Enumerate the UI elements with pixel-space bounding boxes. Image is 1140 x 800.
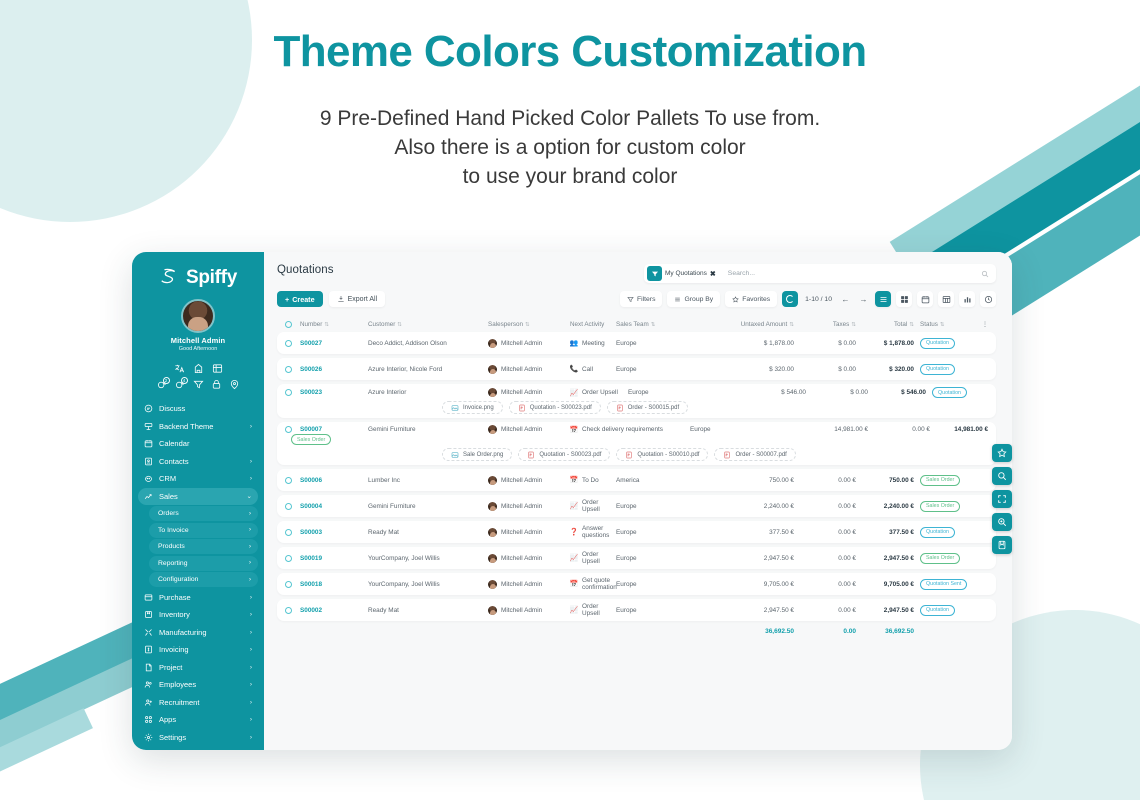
sort-icon: ⇅ (525, 322, 530, 328)
total-amount: 36,692.50 (856, 628, 914, 635)
sidebar-item-sales[interactable]: Sales ⌄ (138, 488, 258, 505)
row-total: 14,981.00 € (930, 426, 988, 433)
sidebar-label: Manufacturing (159, 628, 244, 637)
row-activity-label: Order Upsell (582, 389, 618, 396)
avatar (488, 528, 497, 537)
row-salesperson-name: Mitchell Admin (501, 340, 542, 347)
sidebar-sublabel: Orders (158, 510, 249, 517)
status-badge: Sales Order (920, 475, 960, 486)
row-number[interactable]: S00026 (300, 366, 368, 373)
row-sales-team: Europe (616, 555, 702, 562)
upgrade-icon[interactable] (193, 363, 204, 374)
row-customer: Azure Interior (368, 389, 488, 396)
avatar (488, 476, 497, 485)
row-next-activity: 📅To Do (570, 476, 616, 484)
table-row[interactable]: S00004Gemini FurnitureMitchell Admin📈Ord… (277, 495, 996, 517)
row-checkbox[interactable] (285, 607, 300, 614)
sort-icon: ⇅ (324, 322, 329, 328)
row-next-activity: 📅Check delivery requirements (570, 426, 690, 434)
row-checkbox[interactable] (285, 389, 300, 396)
row-sales-team: Europe (616, 340, 702, 347)
sidebar-item-purchase[interactable]: Purchase › (138, 589, 258, 606)
row-customer: YourCompany, Joel Willis (368, 581, 488, 588)
select-all-checkbox[interactable] (285, 321, 300, 328)
row-sales-team: America (616, 477, 702, 484)
chevron-right-icon: › (249, 577, 251, 583)
row-salesperson: Mitchell Admin (488, 476, 570, 485)
attachment-row: Invoice.pngQuotation - S00023.pdfOrder -… (285, 398, 988, 415)
table-row[interactable]: S00019YourCompany, Joel WillisMitchell A… (277, 547, 996, 569)
sidebar-label: Purchase (159, 593, 244, 602)
row-salesperson-name: Mitchell Admin (501, 366, 542, 373)
employees-icon (144, 680, 153, 689)
loading-spinner-icon[interactable] (782, 291, 798, 307)
table-row[interactable]: S00006Lumber IncMitchell Admin📅To DoAmer… (277, 469, 996, 491)
activity-icon: 📈 (570, 389, 578, 397)
row-checkbox[interactable] (285, 340, 300, 347)
sort-icon: ⇅ (909, 322, 914, 328)
row-untaxed: 377.50 € (702, 529, 794, 536)
profile-block: Mitchell Admin Good Afternoon (132, 297, 264, 357)
column-next-activity[interactable]: Next Activity (570, 321, 616, 328)
sort-icon: ⇅ (397, 322, 402, 328)
filters-button[interactable]: Filters (620, 291, 663, 307)
activity-icon: 📅 (570, 426, 578, 434)
sidebar-sublabel: Products (158, 543, 249, 550)
pdf-file-icon (625, 451, 633, 459)
quick-icons-row-1 (132, 363, 264, 374)
apps-grid-icon[interactable] (212, 363, 223, 374)
row-taxes: 0.00 € (794, 503, 856, 510)
sidebar-subitem-configuration[interactable]: Configuration › (149, 572, 258, 587)
row-status: Quotation (926, 387, 988, 398)
row-salesperson-name: Mitchell Admin (501, 389, 542, 396)
hero-headline: Theme Colors Customization (0, 27, 1140, 77)
row-taxes: 0.00 € (868, 426, 930, 433)
row-activity-label: Check delivery requirements (582, 426, 663, 433)
brand[interactable]: Spiffy (132, 261, 264, 297)
sidebar-item-contacts[interactable]: Contacts › (138, 453, 258, 470)
row-activity-label: Order Upsell (582, 603, 616, 617)
attachment-name: Invoice.png (463, 405, 494, 411)
sidebar-item-crm[interactable]: CRM › (138, 470, 258, 487)
row-customer: Gemini Furniture (368, 426, 488, 433)
kanban-view-icon[interactable] (896, 291, 912, 307)
sidebar-label: Calendar (159, 439, 246, 448)
avatar (488, 606, 497, 615)
row-salesperson: Mitchell Admin (488, 606, 570, 615)
row-salesperson-name: Mitchell Admin (501, 607, 542, 614)
row-untaxed: 2,947.50 € (702, 607, 794, 614)
row-checkbox[interactable] (285, 366, 300, 373)
row-number[interactable]: S00019 (300, 555, 368, 562)
export-icon (337, 295, 345, 303)
search-bar[interactable]: My Quotations ✖ Search... (644, 264, 996, 283)
row-salesperson: Mitchell Admin (488, 365, 570, 374)
row-checkbox[interactable] (285, 426, 300, 433)
row-salesperson: Mitchell Admin (488, 580, 570, 589)
row-customer: Deco Addict, Addison Olson (368, 340, 488, 347)
activity-icon: 📈 (570, 554, 578, 562)
row-number[interactable]: S00018 (300, 581, 368, 588)
chevron-right-icon: › (250, 611, 252, 618)
row-activity-label: Get quote confirmation (582, 577, 617, 591)
sidebar-item-settings[interactable]: Settings › (138, 729, 258, 746)
inventory-icon (144, 610, 153, 619)
row-salesperson: Mitchell Admin (488, 528, 570, 537)
sidebar-label: Recruitment (159, 698, 244, 707)
chevron-right-icon: › (250, 594, 252, 601)
column-salesperson[interactable]: Salesperson⇅ (488, 321, 570, 328)
chevron-right-icon: › (250, 734, 252, 741)
row-salesperson-name: Mitchell Admin (501, 581, 542, 588)
row-total: 2,240.00 € (856, 503, 914, 510)
sidebar-subitem-orders[interactable]: Orders › (149, 506, 258, 521)
favorite-star-icon[interactable] (992, 444, 1012, 462)
row-status: Sales Order (914, 553, 976, 564)
attachment-chip[interactable]: Order - S00015.pdf (607, 401, 688, 414)
status-badge: Sales Order (920, 501, 960, 512)
close-icon[interactable]: ✖ (710, 270, 716, 278)
hero-subline: 9 Pre-Defined Hand Picked Color Pallets … (0, 104, 1140, 191)
row-taxes: $ 0.00 (794, 366, 856, 373)
fullscreen-icon[interactable] (992, 490, 1012, 508)
graph-view-icon[interactable] (959, 291, 975, 307)
row-untaxed: $ 320.00 (702, 366, 794, 373)
sidebar-label: Discuss (159, 404, 246, 413)
row-activity-label: Order Upsell (582, 499, 616, 513)
attachment-chip[interactable]: Sale Order.png (442, 448, 512, 461)
manufacturing-icon (144, 628, 153, 637)
pager-label: 1-10 / 10 (805, 296, 832, 303)
image-file-icon (451, 404, 459, 412)
avatar (488, 339, 497, 348)
sort-icon: ⇅ (651, 322, 656, 328)
row-checkbox[interactable] (285, 477, 300, 484)
row-customer: Azure Interior, Nicole Ford (368, 366, 488, 373)
sidebar-item-discuss[interactable]: Discuss (138, 400, 258, 417)
table-row[interactable]: S00026Azure Interior, Nicole FordMitchel… (277, 358, 996, 380)
row-number[interactable]: S00023 (300, 389, 368, 396)
attachment-chip[interactable]: Quotation - S00023.pdf (518, 448, 610, 461)
column-customer[interactable]: Customer⇅ (368, 321, 488, 328)
sort-icon: ⇅ (851, 322, 856, 328)
settings-gear-icon (144, 733, 153, 742)
activity-icon: ❓ (570, 528, 578, 536)
row-taxes: $ 0.00 (806, 389, 868, 396)
row-salesperson-name: Mitchell Admin (501, 477, 542, 484)
row-untaxed: 750.00 € (702, 477, 794, 484)
row-taxes: 0.00 € (794, 607, 856, 614)
translate-icon[interactable] (174, 363, 185, 374)
activity-icon: 👥 (570, 339, 578, 347)
row-sales-team: Europe (616, 607, 702, 614)
sidebar-menu: Discuss Backend Theme › Calendar Contact… (132, 400, 264, 750)
sidebar-item-invoicing[interactable]: Invoicing › (138, 641, 258, 658)
pager-prev-button[interactable]: ← (839, 291, 852, 307)
discuss-badge-count: 2 (163, 377, 170, 384)
row-salesperson-name: Mitchell Admin (501, 555, 542, 562)
row-total: $ 1,878.00 (856, 340, 914, 347)
bookmark-icon[interactable] (992, 536, 1012, 554)
chevron-right-icon: › (250, 699, 252, 706)
hero-subline-line-2: Also there is a option for custom color (0, 133, 1140, 162)
main-content: Quotations My Quotations ✖ Search... (264, 252, 1012, 750)
sidebar-subitem-reporting[interactable]: Reporting › (149, 556, 258, 571)
row-status: Quotation (914, 605, 976, 616)
project-icon (144, 663, 153, 672)
row-salesperson: Mitchell Admin (488, 339, 570, 348)
column-number[interactable]: Number⇅ (300, 321, 368, 328)
column-sales-team[interactable]: Sales Team⇅ (616, 321, 702, 328)
attachment-chip[interactable]: Quotation - S00023.pdf (509, 401, 601, 414)
row-total: 750.00 € (856, 477, 914, 484)
row-salesperson: Mitchell Admin (488, 502, 570, 511)
invoicing-icon (144, 645, 153, 654)
filters-label: Filters (637, 296, 656, 303)
row-activity-label: Order Upsell (582, 551, 616, 565)
search-icon[interactable] (981, 270, 989, 278)
row-checkbox[interactable] (285, 503, 300, 510)
row-untaxed: $ 1,878.00 (702, 340, 794, 347)
sidebar-subitem-to-invoice[interactable]: To Invoice › (149, 523, 258, 538)
row-next-activity: 📞Call (570, 365, 616, 373)
row-total: 377.50 € (856, 529, 914, 536)
sidebar: Spiffy Mitchell Admin Good Afternoon (132, 252, 264, 750)
pdf-file-icon (616, 404, 624, 412)
table-row[interactable]: S00003Ready MatMitchell Admin❓Answer que… (277, 521, 996, 543)
plus-icon: + (285, 295, 289, 304)
total-taxes: 0.00 (794, 628, 856, 635)
list-lines-icon (674, 296, 681, 303)
facet-label: My Quotations (665, 270, 707, 277)
row-next-activity: 📈Order Upsell (570, 389, 628, 397)
hero-subline-line-1: 9 Pre-Defined Hand Picked Color Pallets … (0, 104, 1140, 133)
create-button[interactable]: + Create (277, 291, 323, 307)
chevron-right-icon: › (249, 544, 251, 550)
sidebar-sublabel: Configuration (158, 576, 249, 583)
sidebar-label: Employees (159, 680, 244, 689)
row-taxes: 0.00 € (794, 555, 856, 562)
row-taxes: 0.00 € (794, 581, 856, 588)
chevron-right-icon: › (250, 458, 252, 465)
lock-icon[interactable] (211, 379, 222, 390)
row-checkbox[interactable] (285, 529, 300, 536)
pdf-file-icon (527, 451, 535, 459)
profile-name: Mitchell Admin (132, 336, 264, 345)
chevron-right-icon: › (249, 511, 251, 517)
chevron-right-icon: › (250, 646, 252, 653)
search-input[interactable]: Search... (720, 270, 981, 277)
column-untaxed-amount[interactable]: Untaxed Amount⇅ (702, 321, 794, 328)
sidebar-item-employees[interactable]: Employees › (138, 676, 258, 693)
activity-icon: 📈 (570, 606, 578, 614)
row-number[interactable]: S00004 (300, 503, 368, 510)
table-row[interactable]: S00002Ready MatMitchell Admin📈Order Upse… (277, 599, 996, 621)
sidebar-item-project[interactable]: Project › (138, 659, 258, 676)
row-total: $ 546.00 (868, 389, 926, 396)
row-checkbox[interactable] (285, 581, 300, 588)
floating-toolbar (992, 444, 1012, 554)
row-customer: Ready Mat (368, 529, 488, 536)
status-badge: Sales Order (920, 553, 960, 564)
activity-badge-count: 4 (181, 377, 188, 384)
attachment-name: Quotation - S00010.pdf (637, 452, 699, 458)
contacts-icon (144, 457, 153, 466)
row-activity-label: Answer questions (582, 525, 616, 539)
row-sales-team: Europe (616, 581, 702, 588)
row-number[interactable]: S00006 (300, 477, 368, 484)
chevron-right-icon: › (250, 681, 252, 688)
row-salesperson: Mitchell Admin (488, 554, 570, 563)
status-badge: Quotation (920, 364, 955, 375)
quotations-table: Number⇅ Customer⇅ Salesperson⇅ Next Acti… (264, 307, 1012, 750)
profile-greeting: Good Afternoon (132, 346, 264, 352)
row-taxes: 0.00 € (794, 529, 856, 536)
row-status: Sales Order (914, 475, 976, 486)
attachment-chip[interactable]: Order - S00007.pdf (714, 448, 795, 461)
row-next-activity: 👥Meeting (570, 339, 616, 347)
activity-icon: 📞 (570, 365, 578, 373)
row-status: Quotation (914, 364, 976, 375)
row-number[interactable]: S00003 (300, 529, 368, 536)
sidebar-item-apps[interactable]: Apps › (138, 711, 258, 728)
calendar-view-icon[interactable] (917, 291, 933, 307)
row-customer: Ready Mat (368, 607, 488, 614)
theme-icon (144, 422, 153, 431)
row-number[interactable]: S00002 (300, 607, 368, 614)
filter-icon[interactable] (193, 379, 204, 390)
attachment-chip[interactable]: Invoice.png (442, 401, 503, 414)
attachment-name: Order - S00015.pdf (628, 405, 679, 411)
row-status: Quotation (914, 527, 976, 538)
purchase-icon (144, 593, 153, 602)
row-taxes: 0.00 € (794, 477, 856, 484)
total-untaxed: 36,692.50 (702, 628, 794, 635)
sort-icon: ⇅ (789, 322, 794, 328)
table-body: S00027Deco Addict, Addison OlsonMitchell… (277, 332, 996, 621)
column-taxes[interactable]: Taxes⇅ (794, 321, 856, 328)
status-badge: Quotation Sent (920, 579, 967, 590)
row-next-activity: ❓Answer questions (570, 525, 616, 539)
pivot-view-icon[interactable] (938, 291, 954, 307)
row-number[interactable]: S00027 (300, 340, 368, 347)
sidebar-sublabel: To Invoice (158, 527, 249, 534)
column-options-icon[interactable]: ⋮ (976, 321, 988, 328)
row-sales-team: Europe (616, 503, 702, 510)
filter-icon (627, 296, 634, 303)
row-untaxed: 2,240.00 € (702, 503, 794, 510)
row-activity-label: Meeting (582, 340, 605, 347)
row-number[interactable]: S00007 (300, 426, 368, 433)
avatar (488, 502, 497, 511)
favorites-button[interactable]: Favorites (725, 291, 777, 307)
search-facet[interactable]: My Quotations ✖ (647, 266, 720, 281)
brand-name: Spiffy (186, 267, 237, 289)
topbar: Quotations My Quotations ✖ Search... (264, 252, 1012, 307)
status-badge: Quotation (920, 527, 955, 538)
chevron-right-icon: › (250, 716, 252, 723)
activity-view-icon[interactable] (980, 291, 996, 307)
row-total: $ 320.00 (856, 366, 914, 373)
decorative-bar-bottom-left-3 (0, 708, 93, 800)
quick-icons-row-2: 2 4 (132, 379, 264, 390)
column-status[interactable]: Status⇅ (914, 321, 976, 328)
view-toolbar: Filters Group By Favorites 1-10 / 10 ← (620, 291, 996, 307)
page-title: Quotations (277, 264, 334, 276)
table-row[interactable]: S00027Deco Addict, Addison OlsonMitchell… (277, 332, 996, 354)
avatar (488, 425, 497, 434)
search-icon[interactable] (992, 467, 1012, 485)
row-total: 9,705.00 € (856, 581, 914, 588)
discuss-badge-icon[interactable]: 2 (157, 379, 168, 390)
pager-next-button[interactable]: → (857, 291, 870, 307)
star-icon (732, 296, 739, 303)
list-view-icon[interactable] (875, 291, 891, 307)
attachment-chip[interactable]: Quotation - S00010.pdf (616, 448, 708, 461)
sidebar-label: Sales (159, 492, 241, 501)
sidebar-label: Invoicing (159, 645, 244, 654)
sidebar-item-inventory[interactable]: Inventory › (138, 606, 258, 623)
export-all-button[interactable]: Export All (329, 291, 386, 307)
row-total: 2,947.50 € (856, 555, 914, 562)
attachment-name: Sale Order.png (463, 452, 503, 458)
avatar (488, 554, 497, 563)
page-root: Theme Colors Customization 9 Pre-Defined… (0, 0, 1140, 800)
sidebar-label: Apps (159, 715, 244, 724)
row-sales-team: Europe (616, 366, 702, 373)
table-row[interactable]: S00023Azure InteriorMitchell Admin📈Order… (277, 384, 996, 418)
export-all-label: Export All (348, 296, 378, 303)
create-button-label: Create (292, 295, 314, 304)
sidebar-item-calendar[interactable]: Calendar (138, 435, 258, 452)
pdf-file-icon (723, 451, 731, 459)
location-icon[interactable] (229, 379, 240, 390)
row-salesperson-name: Mitchell Admin (501, 529, 542, 536)
column-total[interactable]: Total⇅ (856, 321, 914, 328)
status-badge: Quotation (920, 605, 955, 616)
sidebar-item-recruitment[interactable]: Recruitment › (138, 694, 258, 711)
row-untaxed: 14,981.00 € (776, 426, 868, 433)
chevron-right-icon: › (250, 664, 252, 671)
row-status: Sales Order (285, 434, 347, 445)
sidebar-label: Settings (159, 733, 244, 742)
group-by-button[interactable]: Group By (667, 291, 720, 307)
row-customer: Lumber Inc (368, 477, 488, 484)
sidebar-label: CRM (159, 474, 244, 483)
sidebar-label: Project (159, 663, 244, 672)
sidebar-label: Inventory (159, 610, 244, 619)
activity-badge-icon[interactable]: 4 (175, 379, 186, 390)
avatar[interactable] (181, 299, 215, 333)
attachment-row: Sale Order.pngQuotation - S00023.pdfQuot… (285, 445, 988, 462)
hero-subline-line-3: to use your brand color (0, 162, 1140, 191)
row-next-activity: 📅Get quote confirmation (570, 577, 616, 591)
table-row[interactable]: S00007Gemini FurnitureMitchell Admin📅Che… (277, 422, 996, 465)
row-salesperson: Mitchell Admin (488, 425, 570, 434)
sidebar-item-manufacturing[interactable]: Manufacturing › (138, 624, 258, 641)
app-window: Spiffy Mitchell Admin Good Afternoon (132, 252, 1012, 750)
row-checkbox[interactable] (285, 555, 300, 562)
recruitment-icon (144, 698, 153, 707)
chat-icon (144, 404, 153, 413)
chevron-down-icon: ⌄ (247, 492, 252, 500)
sidebar-subitem-products[interactable]: Products › (149, 539, 258, 554)
sidebar-item-backend-theme[interactable]: Backend Theme › (138, 418, 258, 435)
zoom-icon[interactable] (992, 513, 1012, 531)
avatar (488, 580, 497, 589)
table-row[interactable]: S00018YourCompany, Joel WillisMitchell A… (277, 573, 996, 595)
